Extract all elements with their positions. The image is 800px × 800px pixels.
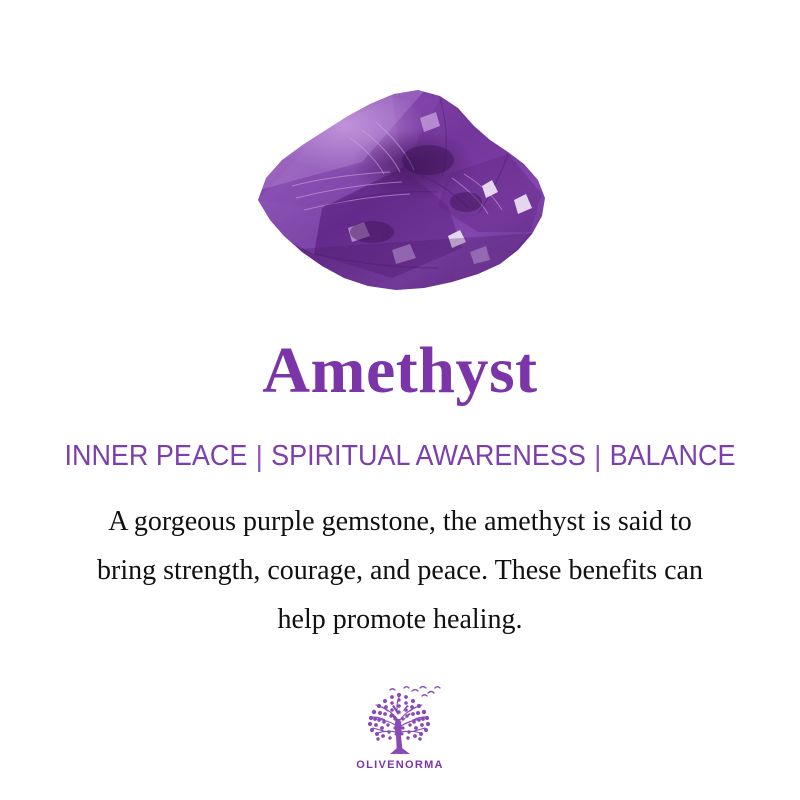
description-line: A gorgeous purple gemstone, the amethyst… bbox=[50, 497, 750, 546]
page-title: Amethyst bbox=[0, 336, 800, 405]
keyword-spiritual-awareness: SPIRITUAL AWARENESS bbox=[271, 440, 586, 472]
description-line: help promote healing. bbox=[50, 595, 750, 644]
amethyst-product-card: Amethyst INNER PEACE|SPIRITUAL AWARENESS… bbox=[0, 0, 800, 800]
tree-of-life-icon bbox=[352, 684, 448, 756]
keyword-list: INNER PEACE|SPIRITUAL AWARENESS|BALANCE bbox=[28, 441, 772, 473]
description-text: A gorgeous purple gemstone, the amethyst… bbox=[50, 497, 750, 644]
keyword-balance: BALANCE bbox=[610, 440, 736, 472]
keyword-inner-peace: INNER PEACE bbox=[64, 440, 247, 472]
description-line: bring strength, courage, and peace. Thes… bbox=[50, 546, 750, 595]
keyword-separator: | bbox=[247, 442, 271, 474]
keyword-separator: | bbox=[586, 442, 610, 474]
brand-logo: OLIVENORMA bbox=[0, 684, 800, 771]
brand-wordmark: OLIVENORMA bbox=[356, 759, 444, 771]
amethyst-stone-image bbox=[252, 82, 552, 294]
amethyst-stone-svg bbox=[252, 82, 552, 294]
